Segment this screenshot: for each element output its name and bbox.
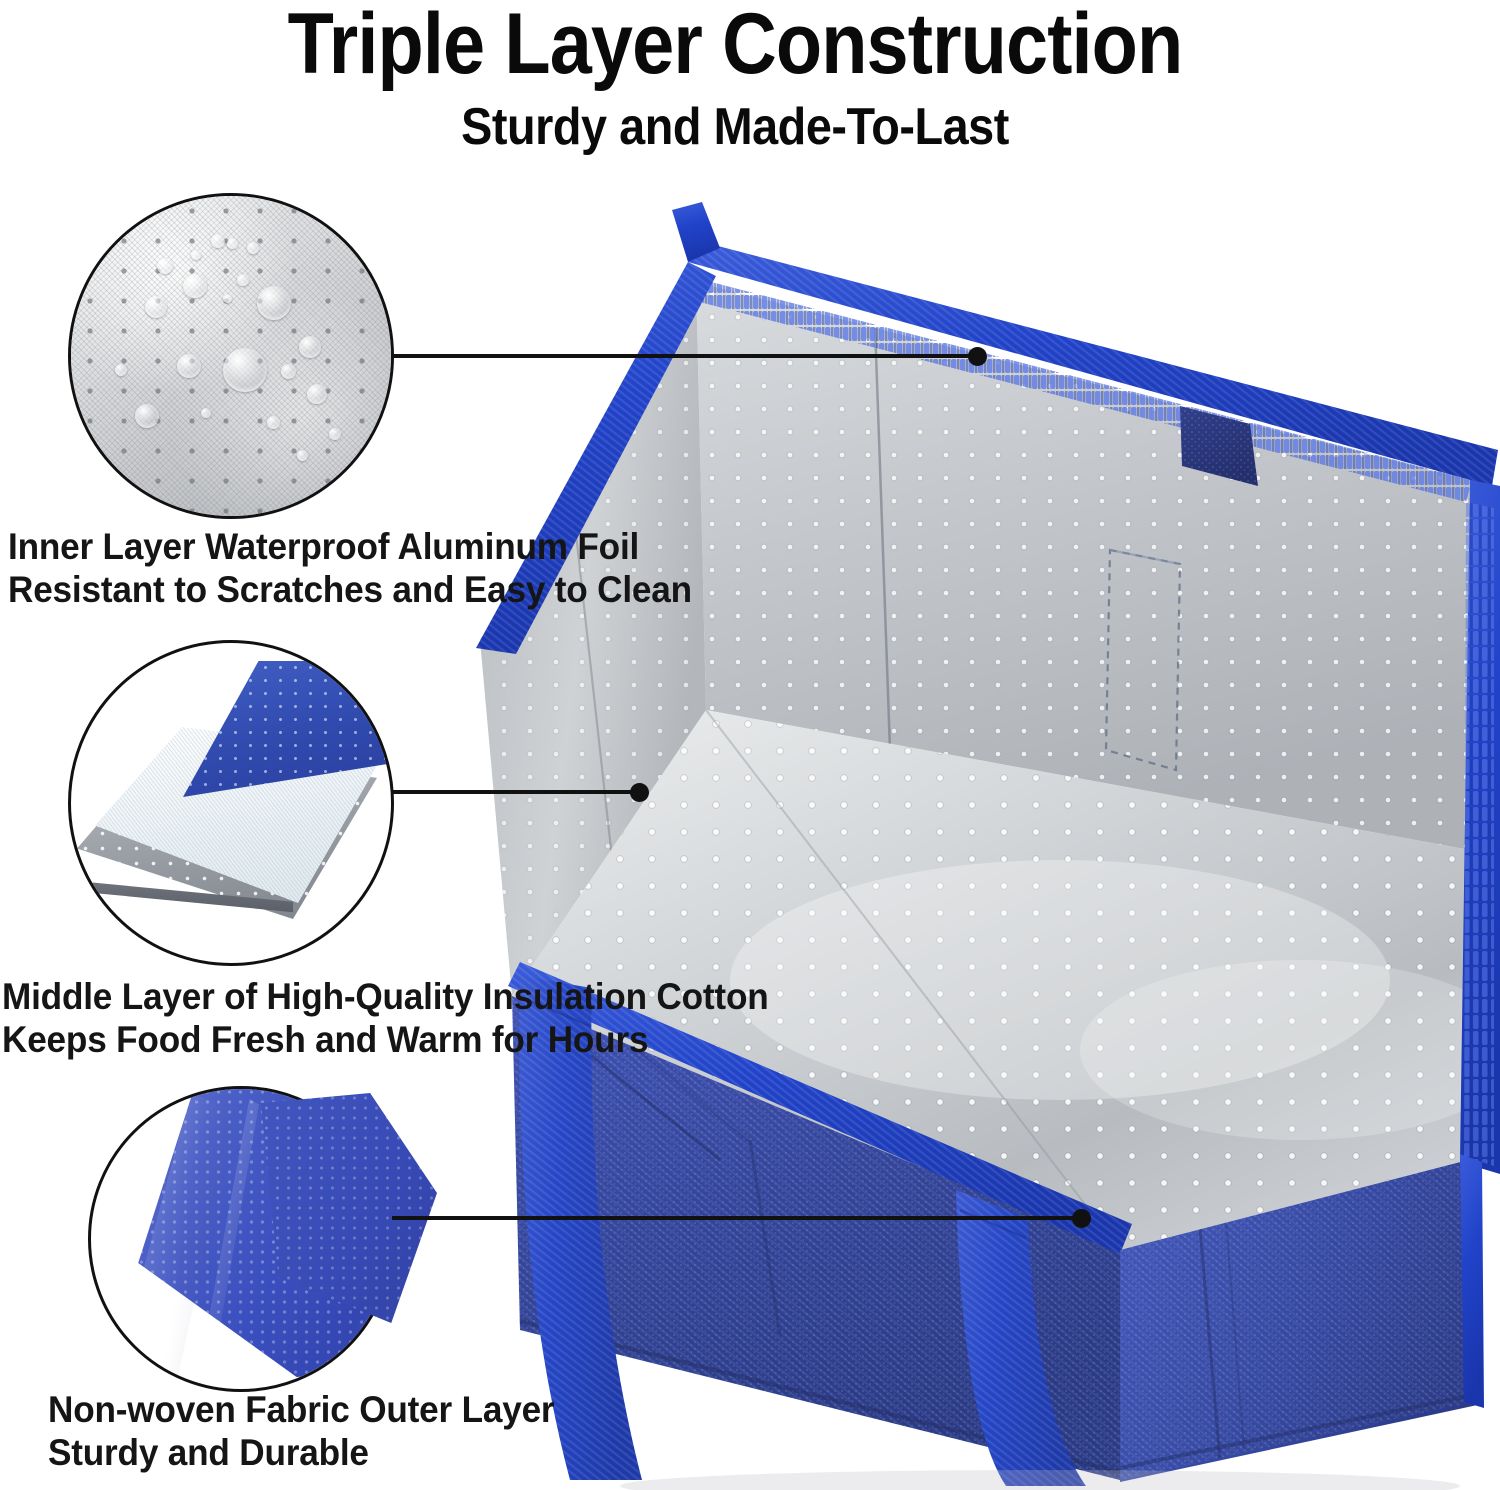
caption-middle-layer-line-1: Middle Layer of High-Quality Insulation …: [2, 975, 769, 1018]
callout-circle-middle-layer: [68, 640, 394, 966]
caption-outer-layer-line-2: Sturdy and Durable: [48, 1431, 554, 1474]
caption-inner-layer-line-1: Inner Layer Waterproof Aluminum Foil: [8, 525, 692, 568]
callout-circle-outer-layer: [88, 1086, 394, 1392]
caption-inner-layer-line-2: Resistant to Scratches and Easy to Clean: [8, 568, 692, 611]
leader-line-inner-layer: [392, 354, 984, 358]
leader-dot-inner-layer: [968, 347, 987, 366]
leader-dot-outer-layer: [1072, 1209, 1091, 1228]
caption-middle-layer-line-2: Keeps Food Fresh and Warm for Hours: [2, 1018, 769, 1061]
stacked-material-layers-icon: [71, 643, 391, 963]
product-photo-insulated-tote-bag: [420, 150, 1500, 1490]
page-subtitle: Sturdy and Made-To-Last: [74, 98, 1397, 156]
caption-outer-layer-line-1: Non-woven Fabric Outer Layer: [48, 1388, 554, 1431]
leader-line-middle-layer: [392, 790, 646, 794]
leader-dot-middle-layer: [630, 783, 649, 802]
caption-inner-layer: Inner Layer Waterproof Aluminum Foil Res…: [8, 525, 692, 611]
water-droplets-on-foil-icon: [71, 196, 391, 516]
caption-middle-layer: Middle Layer of High-Quality Insulation …: [2, 975, 769, 1061]
callout-circle-inner-layer: [68, 193, 394, 519]
caption-outer-layer: Non-woven Fabric Outer Layer Sturdy and …: [48, 1388, 554, 1474]
page-title: Triple Layer Construction: [88, 0, 1382, 90]
leader-line-outer-layer: [392, 1216, 1088, 1220]
infographic-page: Triple Layer Construction Sturdy and Mad…: [0, 0, 1500, 1490]
